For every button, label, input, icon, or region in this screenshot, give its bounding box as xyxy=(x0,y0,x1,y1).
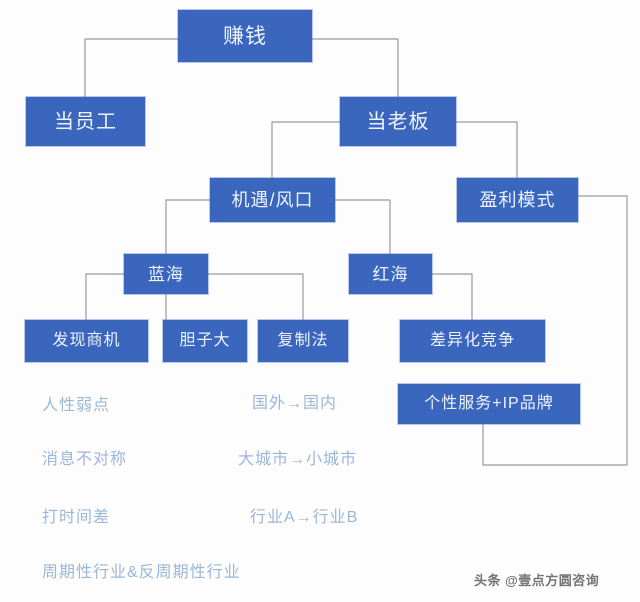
connector-be-boss-to-opportunity xyxy=(272,122,340,178)
diagram-canvas: 赚钱当员工当老板机遇/风口盈利模式蓝海红海发现商机胆子大复制法差异化竞争个性服务… xyxy=(0,0,640,602)
connector-red-ocean-to-diff xyxy=(432,274,472,320)
node-label: 个性服务+IP品牌 xyxy=(424,396,553,412)
note-big-to-small-city: 大城市→小城市 xyxy=(238,452,357,468)
node-label: 胆子大 xyxy=(179,333,230,349)
connector-blue-ocean-to-find xyxy=(86,274,124,320)
node-red-ocean[interactable]: 红海 xyxy=(349,254,432,294)
node-label: 当员工 xyxy=(54,112,117,132)
node-copy-method[interactable]: 复制法 xyxy=(258,320,348,362)
node-label: 赚钱 xyxy=(223,26,267,47)
connector-make-money-to-be-boss xyxy=(312,39,398,97)
node-blue-ocean[interactable]: 蓝海 xyxy=(124,254,208,294)
node-profit-model[interactable]: 盈利模式 xyxy=(457,178,578,222)
node-personal-service[interactable]: 个性服务+IP品牌 xyxy=(398,384,580,424)
node-differentiation[interactable]: 差异化竞争 xyxy=(400,320,545,362)
note-time-gap: 打时间差 xyxy=(42,510,110,526)
node-label: 机遇/风口 xyxy=(231,191,313,209)
note-abroad-to-domestic: 国外→国内 xyxy=(252,396,337,412)
node-label: 当老板 xyxy=(367,112,430,132)
node-label: 盈利模式 xyxy=(480,191,556,209)
node-opportunity[interactable]: 机遇/风口 xyxy=(210,178,335,222)
connector-opportunity-to-blue-ocean xyxy=(166,200,210,254)
note-cyclical-industry: 周期性行业&反周期性行业 xyxy=(42,565,241,581)
connector-blue-ocean-to-copy xyxy=(208,274,303,320)
node-label: 复制法 xyxy=(277,333,328,349)
node-be-bold[interactable]: 胆子大 xyxy=(163,320,247,362)
node-be-employee[interactable]: 当员工 xyxy=(26,97,145,146)
note-industry-a-to-b: 行业A→行业B xyxy=(250,510,358,526)
watermark: 头条 @壹点方圆咨询 xyxy=(474,570,599,589)
connector-be-boss-to-profit-model xyxy=(456,122,517,178)
note-info-asymmetry: 消息不对称 xyxy=(42,452,127,468)
node-label: 红海 xyxy=(373,266,409,283)
node-make-money[interactable]: 赚钱 xyxy=(178,10,312,62)
node-label: 发现商机 xyxy=(52,333,120,349)
node-find-opportunity[interactable]: 发现商机 xyxy=(25,320,148,362)
connector-opportunity-to-red-ocean xyxy=(335,200,390,254)
node-label: 差异化竞争 xyxy=(430,333,515,349)
node-label: 蓝海 xyxy=(148,266,184,283)
note-human-weakness: 人性弱点 xyxy=(42,398,110,414)
node-be-boss[interactable]: 当老板 xyxy=(340,97,456,146)
